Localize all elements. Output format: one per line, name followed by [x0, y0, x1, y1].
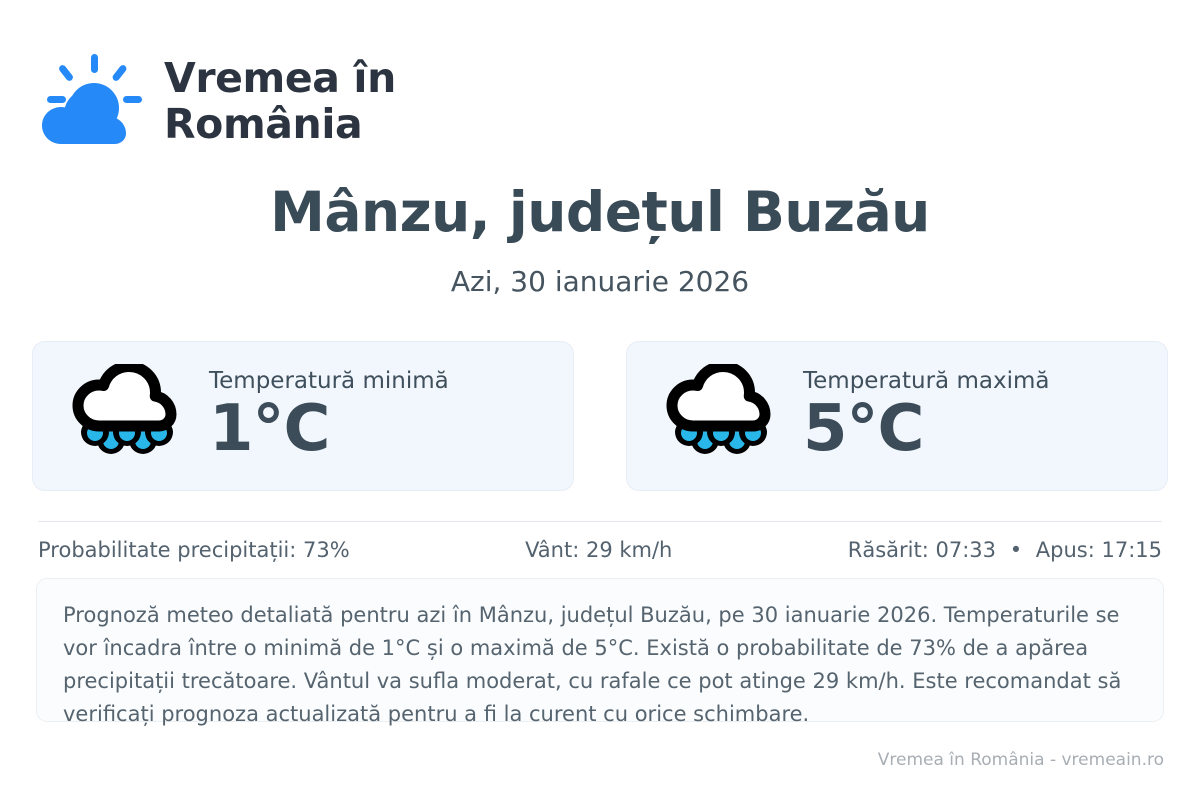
precipitation-stat: Probabilitate precipitații: 73%	[38, 538, 350, 562]
forecast-description-box: Prognoză meteo detaliată pentru azi în M…	[36, 578, 1164, 722]
bullet-separator-icon: •	[1003, 538, 1029, 562]
sun-times-stat: Răsărit: 07:33 • Apus: 17:15	[848, 538, 1162, 562]
rain-cloud-icon	[71, 364, 183, 468]
title-block: Mânzu, județul Buzău Azi, 30 ianuarie 20…	[0, 182, 1200, 298]
brand-name: Vremea în România	[164, 56, 396, 148]
max-temperature-value: 5°C	[803, 396, 1049, 463]
rain-cloud-icon	[665, 364, 777, 468]
weather-page: Vremea în România Mânzu, județul Buzău A…	[0, 0, 1200, 800]
sun-behind-cloud-icon	[38, 52, 142, 152]
max-temperature-text: Temperatură maximă 5°C	[803, 368, 1049, 463]
min-temperature-text: Temperatură minimă 1°C	[209, 368, 449, 463]
sunset-value: Apus: 17:15	[1036, 538, 1162, 562]
max-temperature-label: Temperatură maximă	[803, 368, 1049, 394]
temperature-cards: Temperatură minimă 1°C	[32, 341, 1168, 491]
page-title: Mânzu, județul Buzău	[0, 182, 1200, 243]
page-subtitle: Azi, 30 ianuarie 2026	[0, 265, 1200, 298]
sunrise-value: Răsărit: 07:33	[848, 538, 996, 562]
min-temperature-label: Temperatură minimă	[209, 368, 449, 394]
brand-header[interactable]: Vremea în România	[38, 52, 396, 152]
min-temperature-card: Temperatură minimă 1°C	[32, 341, 574, 491]
footer-credit: Vremea în România - vremeain.ro	[878, 750, 1164, 770]
forecast-description-text: Prognoză meteo detaliată pentru azi în M…	[63, 599, 1137, 731]
wind-stat: Vânt: 29 km/h	[350, 538, 848, 562]
weather-stats-row: Probabilitate precipitații: 73% Vânt: 29…	[38, 538, 1162, 562]
min-temperature-value: 1°C	[209, 396, 449, 463]
divider	[38, 521, 1162, 522]
max-temperature-card: Temperatură maximă 5°C	[626, 341, 1168, 491]
